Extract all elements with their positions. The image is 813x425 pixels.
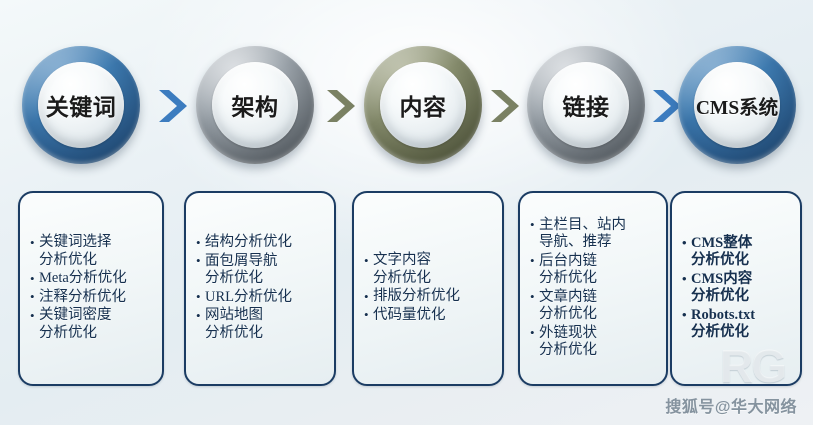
list-item: URL分析优化 [196,289,328,307]
architecture-panel[interactable]: 结构分析优化 面包屑导航 分析优化 URL分析优化 网站地图 分析优化 [184,191,336,386]
list-item: 文章内链 分析优化 [530,289,660,324]
content-panel[interactable]: 文字内容 分析优化 排版分析优化 代码量优化 [352,191,504,386]
architecture-panel-list: 结构分析优化 面包屑导航 分析优化 URL分析优化 网站地图 分析优化 [186,234,334,343]
list-item: 排版分析优化 [364,288,496,306]
list-item: CMS内容 分析优化 [682,271,794,306]
list-item: 注释分析优化 [30,289,156,307]
cms-panel-list: CMS整体 分析优化 CMS内容 分析优化 Robots.txt 分析优化 [672,235,800,343]
cms-panel[interactable]: CMS整体 分析优化 CMS内容 分析优化 Robots.txt 分析优化 [670,191,802,386]
link-panel-list: 主栏目、站内 导航、推荐 后台内链 分析优化 文章内链 分析优化 外链现状 分析… [520,217,666,361]
list-item: Meta分析优化 [30,270,156,288]
keyword-panel-list: 关键词选择 分析优化 Meta分析优化 注释分析优化 关键词密度 分析优化 [20,234,162,343]
list-item: 主栏目、站内 导航、推荐 [530,217,660,252]
detail-panels: 关键词选择 分析优化 Meta分析优化 注释分析优化 关键词密度 分析优化 结构… [0,0,813,425]
list-item: 外链现状 分析优化 [530,325,660,360]
list-item: 网站地图 分析优化 [196,307,328,342]
list-item: 结构分析优化 [196,234,328,252]
list-item: 关键词密度 分析优化 [30,307,156,342]
list-item: 关键词选择 分析优化 [30,234,156,269]
list-item: 代码量优化 [364,307,496,325]
list-item: 面包屑导航 分析优化 [196,253,328,288]
list-item: Robots.txt 分析优化 [682,307,794,342]
diagram-canvas: 关键词 架构 内容 链接 [0,0,813,425]
link-panel[interactable]: 主栏目、站内 导航、推荐 后台内链 分析优化 文章内链 分析优化 外链现状 分析… [518,191,668,386]
watermark-text: 搜狐号@华大网络 [665,393,797,417]
list-item: 文字内容 分析优化 [364,252,496,287]
keyword-panel[interactable]: 关键词选择 分析优化 Meta分析优化 注释分析优化 关键词密度 分析优化 [18,191,164,386]
content-panel-list: 文字内容 分析优化 排版分析优化 代码量优化 [354,252,502,325]
list-item: CMS整体 分析优化 [682,235,794,270]
list-item: 后台内链 分析优化 [530,253,660,288]
